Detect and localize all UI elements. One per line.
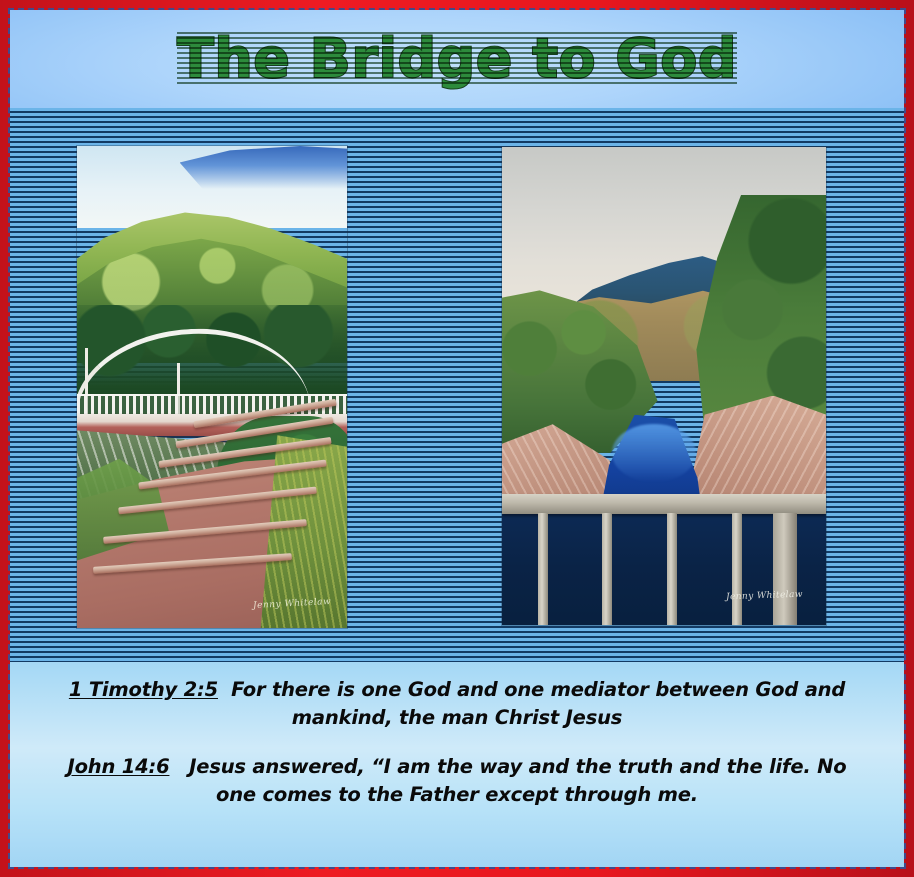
verse-reference-john: John 14:6 [68,755,170,778]
image-river-gorge-painting[interactable]: Jenny Whitelaw [502,147,826,625]
image-suspension-bridge-painting[interactable]: Jenny Whitelaw [77,146,347,628]
slide-frame: The Bridge to God [0,0,914,877]
title-banner: The Bridge to God [10,10,904,108]
left-stone-steps [93,406,341,608]
right-river-highlight [612,424,696,481]
verse-1-timothy: 1 Timothy 2:5 For there is one God and o… [54,676,860,731]
striped-background-band: Jenny Whitelaw [10,108,904,662]
verse-spacer [169,755,189,778]
verse-text-1-timothy: For there is one God and one mediator be… [231,678,845,729]
right-bridge-pier [773,513,797,625]
verse-spacer [218,678,231,701]
verse-john: John 14:6 Jesus answered, “I am the way … [54,753,860,808]
title-wrap: The Bridge to God [177,32,737,86]
right-bridge-rail-top [502,494,826,514]
page-title: The Bridge to God [177,27,737,90]
verse-reference-1-timothy: 1 Timothy 2:5 [69,678,218,701]
verse-panel: 1 Timothy 2:5 For there is one God and o… [10,662,904,867]
verse-text-john: Jesus answered, “I am the way and the tr… [189,755,846,806]
slide-body: The Bridge to God [10,10,904,867]
